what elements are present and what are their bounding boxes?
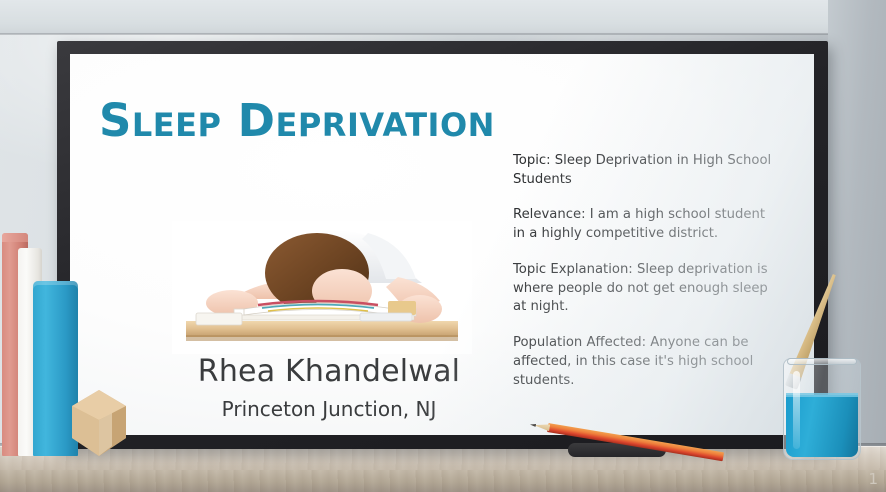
page-number: 1 <box>868 470 878 488</box>
whiteboard-frame: Sleep Deprivation <box>57 41 828 449</box>
body-paragraph-relevance: Relevance: I am a high school student in… <box>513 206 781 243</box>
red-book-top-edge <box>2 233 28 242</box>
presenter-location: Princeton Junction, NJ <box>184 397 474 421</box>
slide-body-text: Topic: Sleep Deprivation in High School … <box>513 152 781 407</box>
pencil-graphite-tip <box>530 423 536 427</box>
presentation-slide-scene: Sleep Deprivation <box>0 0 886 492</box>
glass-jar-with-blue-liquid <box>783 358 861 460</box>
body-paragraph-topic-explanation: Topic Explanation: Sleep deprivation is … <box>513 261 781 317</box>
student-asleep-illustration <box>172 221 472 354</box>
body-paragraph-population-affected: Population Affected: Anyone can be affec… <box>513 334 781 390</box>
jar-glass-body <box>783 358 861 460</box>
body-paragraph-topic: Topic: Sleep Deprivation in High School … <box>513 152 781 189</box>
wall-top-seam <box>0 0 886 34</box>
student-asleep-photo <box>172 221 472 354</box>
wooden-shelf-front-edge <box>0 470 886 492</box>
page-title: Sleep Deprivation <box>99 94 495 147</box>
wooden-geometric-decor <box>68 390 130 458</box>
jar-highlight <box>793 371 800 449</box>
slide-canvas: Sleep Deprivation <box>70 54 814 435</box>
wall-seam-line <box>0 33 886 35</box>
presenter-name: Rhea Khandelwal <box>184 354 474 389</box>
jar-rim <box>787 358 857 365</box>
